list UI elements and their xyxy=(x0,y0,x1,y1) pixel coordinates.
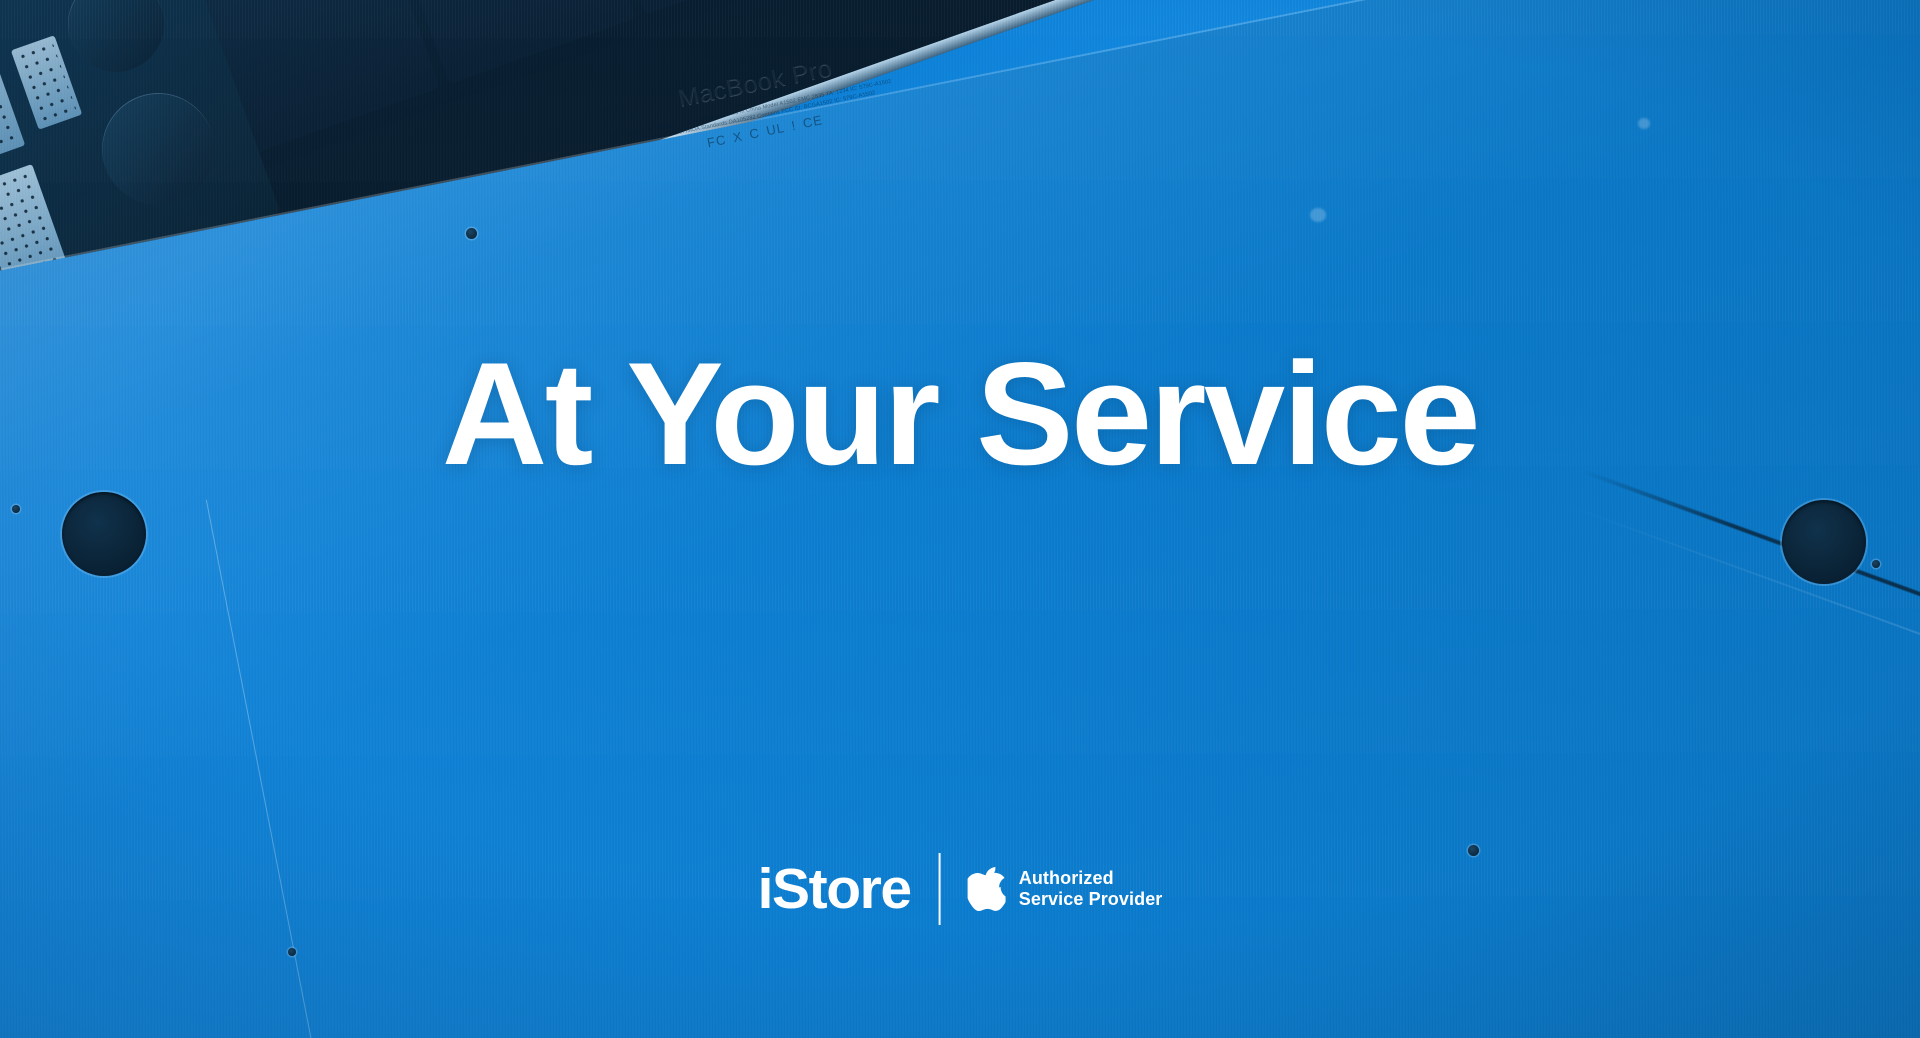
istore-wordmark: iStore xyxy=(758,861,939,918)
poster-content: At Your Service iStore Authorized Servic… xyxy=(0,0,1920,1038)
authorized-service-provider-text: Authorized Service Provider xyxy=(1019,868,1163,910)
apple-authorization-block: Authorized Service Provider xyxy=(941,866,1163,912)
lockup-divider xyxy=(939,853,941,925)
brand-lockup: iStore Authorized Service Provider xyxy=(758,852,1163,926)
authorization-line-1: Authorized xyxy=(1019,868,1163,889)
authorization-line-2: Service Provider xyxy=(1019,889,1163,910)
apple-logo-icon xyxy=(968,866,1006,912)
page-title: At Your Service xyxy=(442,341,1478,487)
poster-canvas: MacBook Pro Designed by Apple in Califor… xyxy=(0,0,1920,1038)
